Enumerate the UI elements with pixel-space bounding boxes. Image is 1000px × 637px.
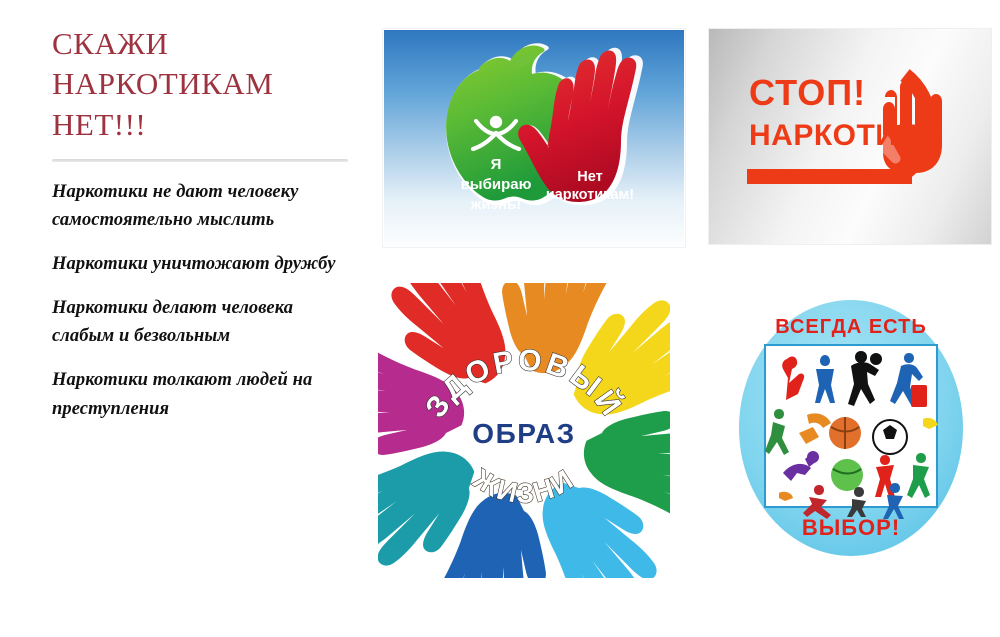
slide-root: СКАЖИ НАРКОТИКАМ НЕТ!!! Наркотики не даю… xyxy=(0,0,1000,637)
handprint-circle-illustration: ЗДОРОВЫЙ ОБРАЗ ЖИЗНИ xyxy=(378,283,670,578)
sports-title-bottom: ВЫБОР! xyxy=(802,515,900,540)
word-obraz: ОБРАЗ xyxy=(472,418,575,449)
stop-narkotik-illustration: СТОП! НАРКОТИК! xyxy=(709,29,991,244)
bullet-item-1: Наркотики не дают человеку самостоятельн… xyxy=(52,178,352,234)
stop-baseline xyxy=(747,169,912,184)
svg-text:Я: Я xyxy=(491,156,502,173)
bullet-item-4: Наркотики толкают людей на преступления xyxy=(52,366,352,422)
apple-hand-illustration: Я выбираю жизнь! Нет наркотикам! xyxy=(383,29,685,247)
poster-apple-hand: Я выбираю жизнь! Нет наркотикам! xyxy=(382,28,686,248)
sports-title-top: ВСЕГДА ЕСТЬ xyxy=(775,316,926,338)
poster-healthy-lifestyle: ЗДОРОВЫЙ ОБРАЗ ЖИЗНИ xyxy=(378,283,670,578)
poster-always-a-choice: ВСЕГДА ЕСТЬ ВЫБОР! xyxy=(735,297,967,559)
svg-text:выбираю: выбираю xyxy=(461,176,532,193)
sports-circle-illustration: ВСЕГДА ЕСТЬ ВЫБОР! xyxy=(735,297,967,559)
svg-text:СТОП!: СТОП! xyxy=(749,72,866,113)
text-panel: СКАЖИ НАРКОТИКАМ НЕТ!!! Наркотики не даю… xyxy=(52,24,352,423)
bullet-item-3: Наркотики делают человека слабым и безво… xyxy=(52,294,352,350)
svg-text:наркотикам!: наркотикам! xyxy=(546,187,634,203)
svg-text:жизнь!: жизнь! xyxy=(470,196,522,213)
poster-stop-narkotik: СТОП! НАРКОТИК! xyxy=(708,28,992,245)
bullet-item-2: Наркотики уничтожают дружбу xyxy=(52,250,352,278)
title-divider xyxy=(52,159,348,162)
bullet-list: Наркотики не дают человеку самостоятельн… xyxy=(52,178,352,423)
svg-text:Нет: Нет xyxy=(577,169,602,185)
svg-text:НАРКОТИК!: НАРКОТИК! xyxy=(749,119,927,152)
page-title: СКАЖИ НАРКОТИКАМ НЕТ!!! xyxy=(52,24,352,145)
